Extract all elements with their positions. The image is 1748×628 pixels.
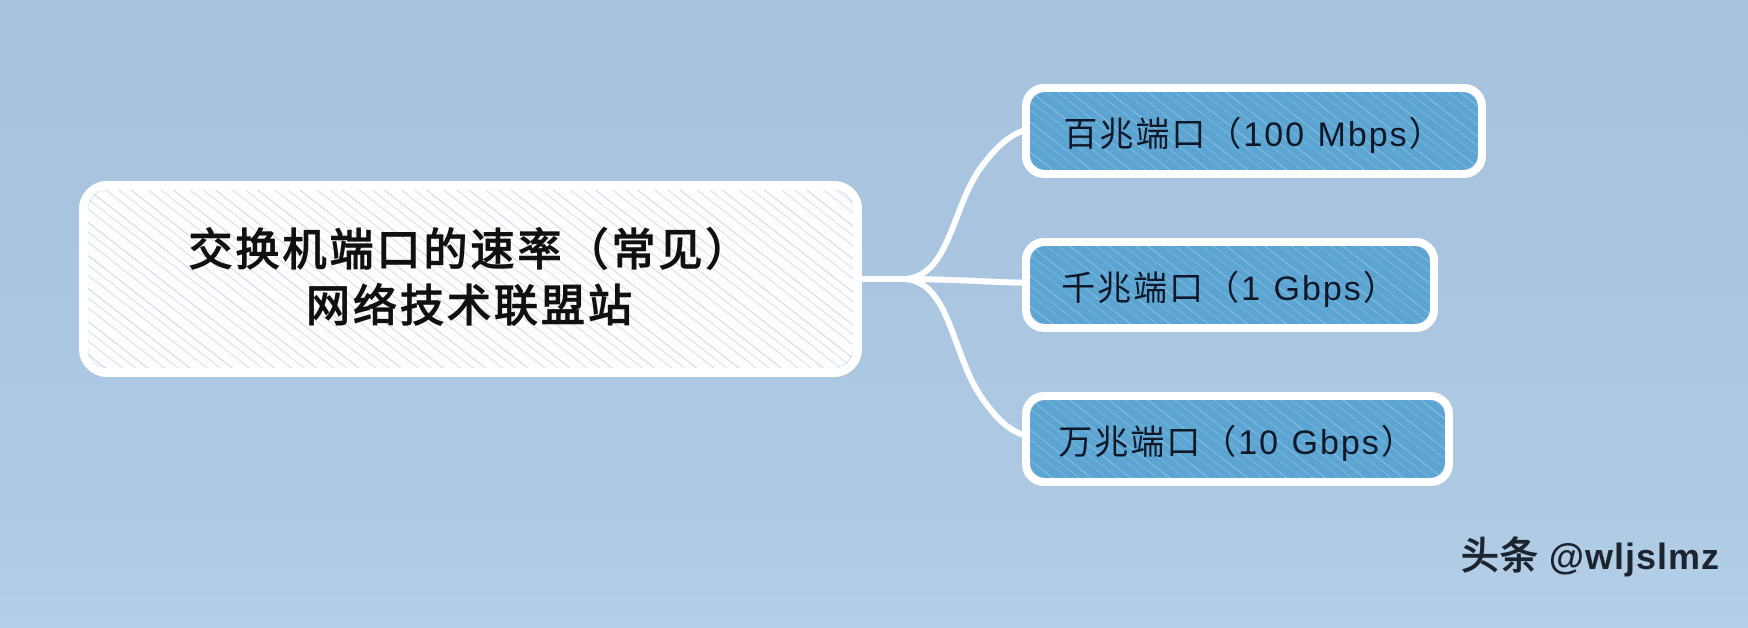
central-node[interactable]: 交换机端口的速率（常见） 网络技术联盟站 <box>88 190 853 368</box>
child-node-gigabit-ethernet[interactable]: 千兆端口（1 Gbps） <box>1030 246 1430 324</box>
central-node-title-line2: 网络技术联盟站 <box>306 279 635 335</box>
child-node-fast-ethernet[interactable]: 百兆端口（100 Mbps） <box>1030 92 1478 170</box>
central-node-title-line1: 交换机端口的速率（常见） <box>189 223 753 279</box>
connector-branch-2 <box>903 279 1032 437</box>
watermark-handle: @wljslmz <box>1549 536 1720 578</box>
watermark: 头条 @wljslmz <box>1461 525 1720 580</box>
watermark-source: 头条 <box>1461 525 1539 580</box>
connector-branch-1 <box>903 279 1032 283</box>
connector-branch-0 <box>903 128 1032 279</box>
mindmap-canvas: 交换机端口的速率（常见） 网络技术联盟站 百兆端口（100 Mbps） 千兆端口… <box>0 0 1748 628</box>
child-node-label: 百兆端口（100 Mbps） <box>1063 107 1444 156</box>
child-node-label: 千兆端口（1 Gbps） <box>1061 261 1399 310</box>
child-node-ten-gigabit-ethernet[interactable]: 万兆端口（10 Gbps） <box>1030 400 1445 478</box>
child-node-label: 万兆端口（10 Gbps） <box>1058 415 1417 464</box>
